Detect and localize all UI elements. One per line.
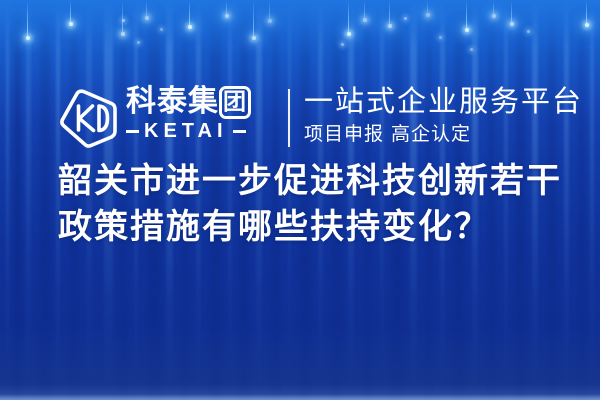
brand-name-en: KETAI (126, 121, 276, 141)
headline-block: 韶关市进一步促进科技创新若干 政策措施有哪些扶持变化？ (58, 158, 558, 250)
brand-name-cn-main: 科泰集 (126, 84, 219, 119)
banner-header: 科泰集团 KETAI 一站式企业服务平台 项目申报 高企认定 (0, 40, 600, 120)
headline-line-1: 韶关市进一步促进科技创新若干 (58, 158, 558, 204)
brand-name-en-text: KETAI (144, 121, 228, 141)
bottom-highlight-band (0, 394, 600, 400)
brand-lockup: 科泰集团 KETAI (126, 85, 276, 141)
ketai-diamond-k-logo-icon (59, 87, 119, 149)
slogan-block: 一站式企业服务平台 项目申报 高企认定 (304, 84, 594, 146)
brand-name-cn-boxed-char: 团 (219, 86, 251, 119)
slogan-primary: 一站式企业服务平台 (304, 84, 594, 119)
vertical-divider (288, 89, 290, 147)
dash-left-icon (126, 130, 139, 133)
headline-line-2: 政策措施有哪些扶持变化？ (58, 204, 558, 250)
slogan-secondary: 项目申报 高企认定 (304, 122, 594, 146)
dash-right-icon (233, 130, 246, 133)
promotional-banner: 科泰集团 KETAI 一站式企业服务平台 项目申报 高企认定 韶关市进一步促进科… (0, 0, 600, 400)
brand-name-cn: 科泰集团 (126, 85, 276, 119)
